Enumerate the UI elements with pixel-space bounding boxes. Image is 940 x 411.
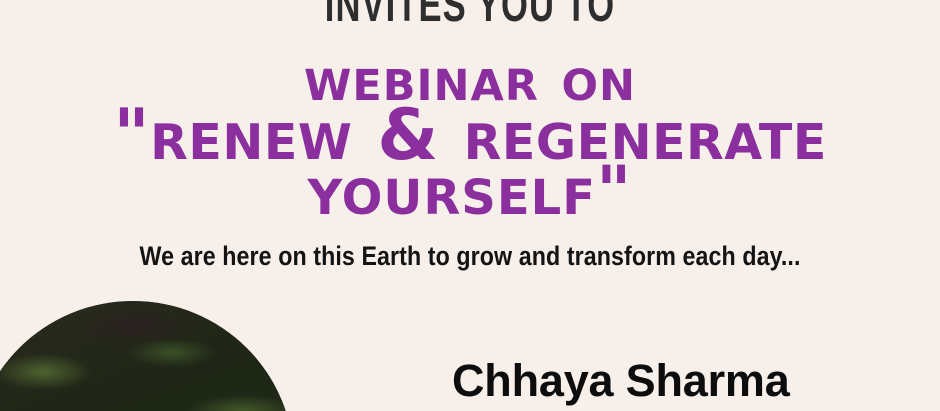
photo-foliage-background [0, 301, 294, 411]
speaker-photo [0, 301, 294, 411]
poster-headline: Webinar on "Renew & Regenerate Yourself" [0, 50, 940, 224]
poster-tagline: We are here on this Earth to grow and tr… [66, 240, 874, 272]
speaker-name: Chhaya Sharma [452, 355, 790, 407]
poster-kicker: INVITES YOU TO [132, 0, 809, 34]
webinar-poster: INVITES YOU TO Webinar on "Renew & Regen… [0, 0, 940, 411]
